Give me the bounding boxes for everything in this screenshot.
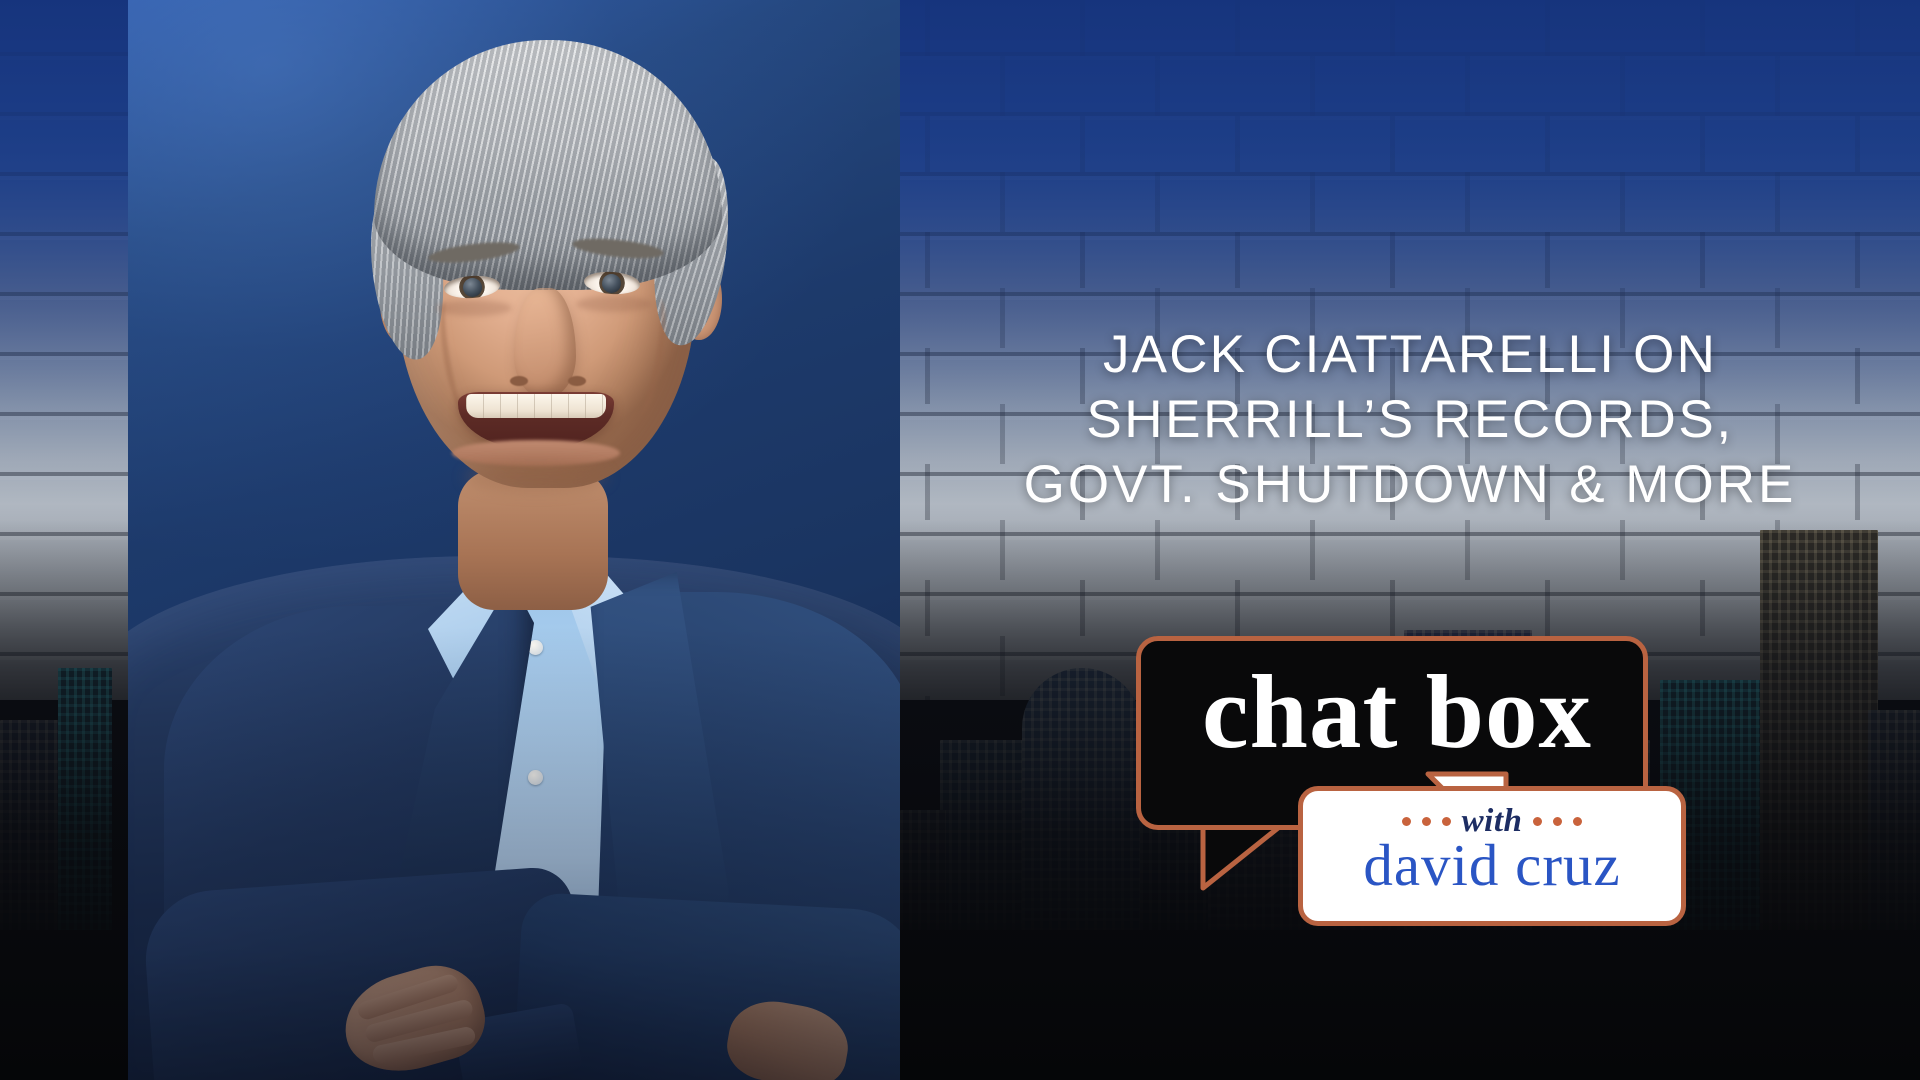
dot-icon — [1533, 817, 1542, 826]
episode-title-line-1: JACK CIATTARELLI ON — [900, 322, 1920, 387]
show-title: chat box — [1141, 659, 1653, 764]
speech-bubble-white: with david cruz — [1298, 786, 1686, 926]
episode-title-line-3: GOVT. SHUTDOWN & MORE — [900, 452, 1920, 517]
dot-icon — [1553, 817, 1562, 826]
guest-portrait-panel — [128, 0, 900, 1080]
thumbnail-canvas: JACK CIATTARELLI ON SHERRILL’S RECORDS, … — [0, 0, 1920, 1080]
panel-bottom-shade — [128, 0, 900, 1080]
dot-icon — [1442, 817, 1451, 826]
dot-icon — [1402, 817, 1411, 826]
dot-icon — [1422, 817, 1431, 826]
chat-box-logo[interactable]: chat box with david cruz — [1136, 636, 1696, 966]
dots-left — [1402, 817, 1451, 826]
dots-right — [1533, 817, 1582, 826]
speech-bubble-tail-black — [1200, 822, 1308, 914]
host-name: david cruz — [1303, 835, 1681, 897]
dot-icon — [1573, 817, 1582, 826]
episode-title-line-2: SHERRILL’S RECORDS, — [900, 387, 1920, 452]
episode-title: JACK CIATTARELLI ON SHERRILL’S RECORDS, … — [900, 322, 1920, 518]
